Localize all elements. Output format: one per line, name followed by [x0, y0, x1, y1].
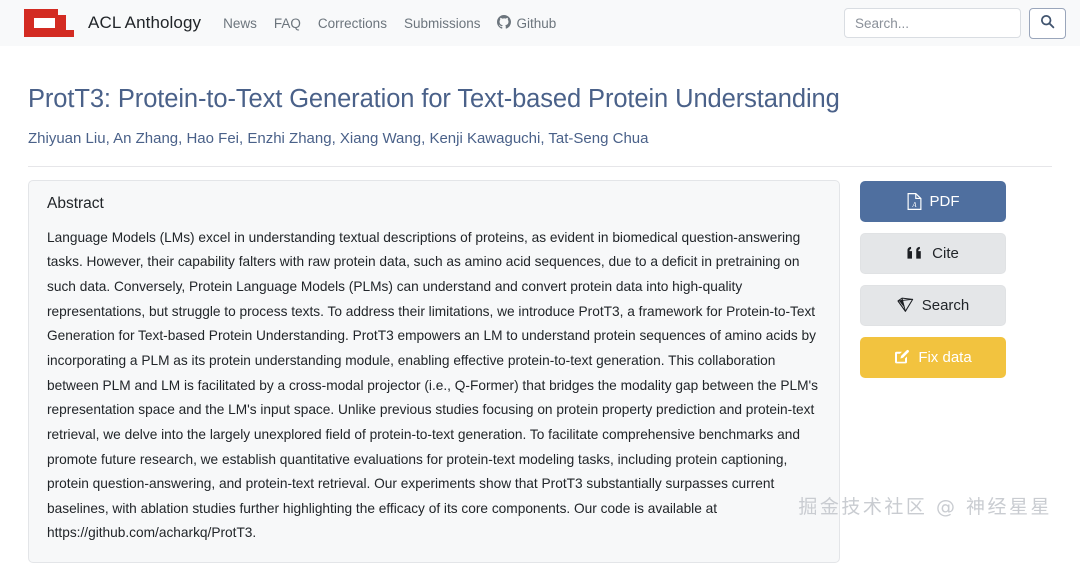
author-link[interactable]: An Zhang: [113, 130, 178, 147]
svg-text:A: A: [911, 201, 917, 208]
abstract-heading: Abstract: [47, 195, 821, 213]
cite-button-label: Cite: [932, 245, 959, 262]
nav-link-github[interactable]: Github: [497, 15, 556, 32]
fix-data-button[interactable]: Fix data: [860, 337, 1006, 378]
author-link[interactable]: Enzhi Zhang: [247, 130, 331, 147]
quote-icon: [907, 246, 924, 260]
brand-name: ACL Anthology: [88, 13, 201, 33]
author-link[interactable]: Hao Fei: [186, 130, 239, 147]
pdf-button[interactable]: A PDF: [860, 181, 1006, 222]
author-link[interactable]: Xiang Wang: [340, 130, 421, 147]
page-body: ProtT3: Protein-to-Text Generation for T…: [0, 84, 1080, 563]
author-list: Zhiyuan Liu, An Zhang, Hao Fei, Enzhi Zh…: [28, 129, 1052, 149]
author-separator: ,: [332, 130, 340, 147]
nav-link-faq-label: FAQ: [274, 16, 301, 31]
semantic-scholar-diamond-icon: [897, 297, 914, 313]
nav-link-faq[interactable]: FAQ: [274, 16, 301, 31]
author-link[interactable]: Zhiyuan Liu: [28, 130, 106, 147]
header-search: [844, 8, 1066, 39]
search-input[interactable]: [844, 8, 1021, 38]
nav-link-corrections-label: Corrections: [318, 16, 387, 31]
semantic-scholar-search-button[interactable]: Search: [860, 285, 1006, 326]
paper-content-row: Abstract Language Models (LMs) excel in …: [28, 180, 1052, 563]
abstract-text: Language Models (LMs) excel in understan…: [47, 226, 821, 547]
author-separator: ,: [106, 130, 114, 147]
abstract-card: Abstract Language Models (LMs) excel in …: [28, 180, 840, 563]
cite-button[interactable]: Cite: [860, 233, 1006, 274]
fix-data-button-label: Fix data: [918, 349, 971, 366]
acl-logo-icon: [22, 6, 76, 40]
nav-link-submissions[interactable]: Submissions: [404, 16, 481, 31]
author-link[interactable]: Kenji Kawaguchi: [429, 130, 540, 147]
nav-link-news-label: News: [223, 16, 257, 31]
pdf-button-label: PDF: [930, 193, 960, 210]
edit-pencil-icon: [894, 349, 910, 365]
page-title: ProtT3: Protein-to-Text Generation for T…: [28, 84, 1052, 115]
github-icon: [497, 15, 511, 32]
section-divider: [28, 166, 1052, 167]
nav-link-corrections[interactable]: Corrections: [318, 16, 387, 31]
search-submit-button[interactable]: [1029, 8, 1066, 39]
paper-actions: A PDF Cite: [860, 180, 1006, 378]
nav-link-github-label: Github: [516, 16, 556, 31]
main-nav: News FAQ Corrections Submissions Github: [223, 15, 556, 32]
pdf-file-icon: A: [907, 193, 922, 210]
site-header: ACL Anthology News FAQ Corrections Submi…: [0, 0, 1080, 46]
search-button-label: Search: [922, 297, 970, 314]
nav-link-news[interactable]: News: [223, 16, 257, 31]
author-link[interactable]: Tat-Seng Chua: [548, 130, 648, 147]
search-icon: [1040, 14, 1055, 32]
nav-link-submissions-label: Submissions: [404, 16, 481, 31]
brand-home-link[interactable]: ACL Anthology: [22, 6, 201, 40]
